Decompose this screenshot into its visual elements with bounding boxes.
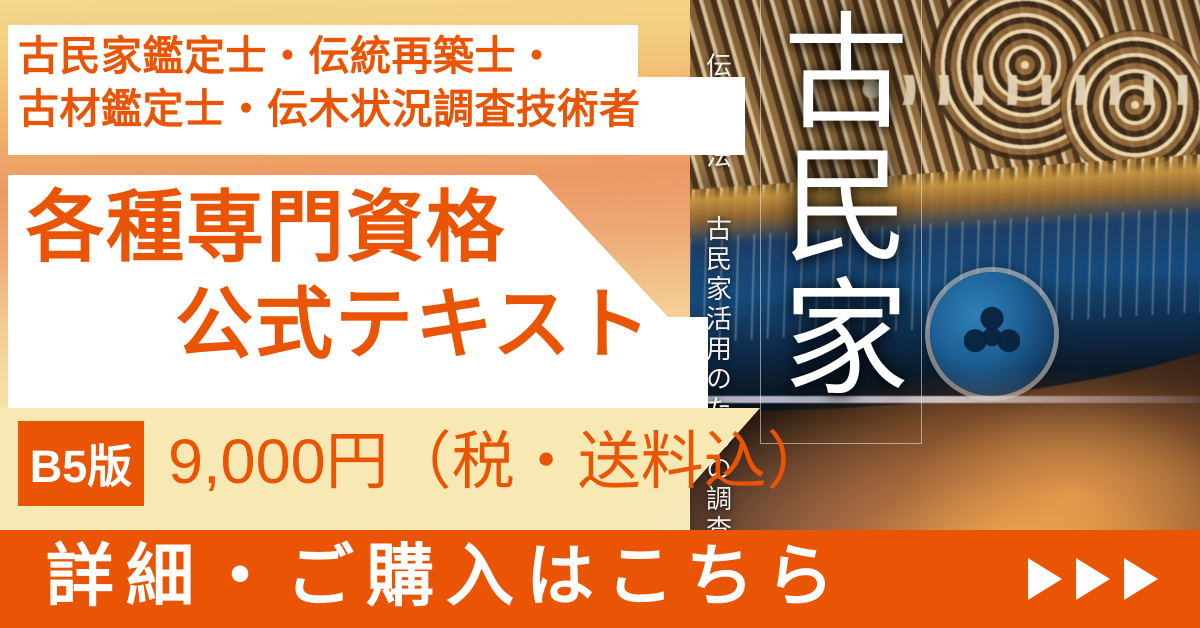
triangle-right-icon bbox=[1028, 558, 1062, 600]
qualifications-text: 古民家鑑定士・伝統再築士・ 古材鑑定士・伝木状況調査技術者 bbox=[18, 30, 738, 136]
cta-label: 詳細・ご購入はこちら bbox=[46, 542, 846, 610]
cover-title: 古民家 bbox=[775, 6, 907, 405]
promo-banner: 古民家 伝統構法 古民家活用のための調査と再生の 古民家鑑定士・伝統再築士・ 古… bbox=[0, 0, 1200, 628]
headline-line-1: 各種専門資格 bbox=[26, 188, 506, 266]
triangle-right-icon bbox=[1124, 558, 1158, 600]
qualification-line-1: 古民家鑑定士・伝統再築士・ bbox=[18, 30, 738, 83]
triangle-right-icon bbox=[1076, 558, 1110, 600]
headline-line-2: 公式テキスト bbox=[175, 285, 653, 363]
cta-bar[interactable]: 詳細・ご購入はこちら bbox=[0, 530, 1200, 628]
qualification-line-2: 古材鑑定士・伝木状況調査技術者 bbox=[18, 83, 738, 136]
size-badge-label: B5版 bbox=[18, 430, 144, 495]
price-text: 9,000円（税・送料込） bbox=[168, 425, 830, 501]
cta-arrows bbox=[1028, 558, 1158, 600]
size-badge: B5版 bbox=[18, 421, 144, 506]
